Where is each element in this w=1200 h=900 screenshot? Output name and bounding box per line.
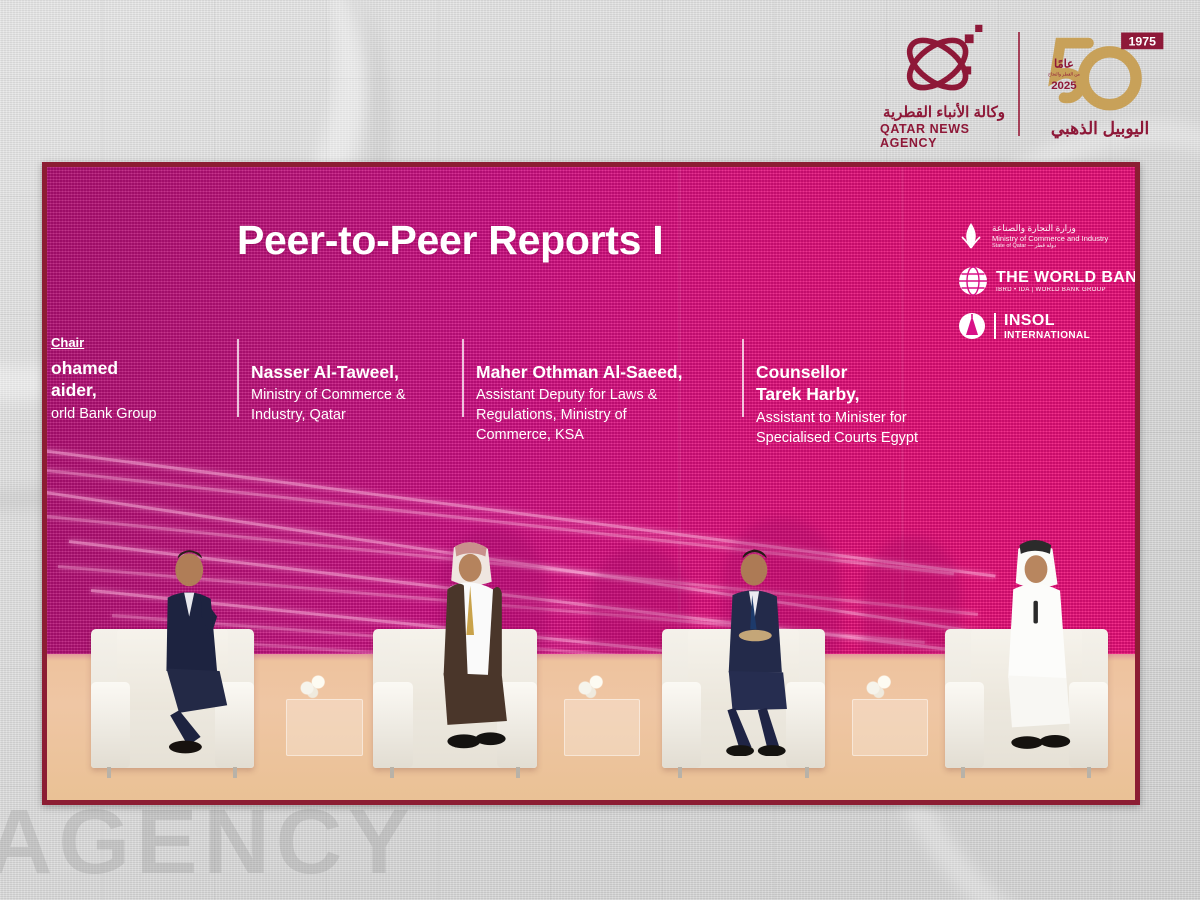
ministry-commerce-industry-icon (958, 221, 984, 251)
side-table-3 (852, 699, 928, 756)
jubilee-50-icon: 1975 عامًا من القطر والنجاح 2025 (1034, 30, 1166, 116)
jubilee-arabic-title: اليوبيل الذهبي (1051, 119, 1149, 139)
qatar-news-agency-logo: وكالة الأنباء القطرية QATAR NEWS AGENCY (880, 19, 1008, 150)
speaker-1-name: ohamed aider, (51, 357, 237, 402)
background-watermark: AGENCY (0, 790, 416, 895)
sponsor-ministry-commerce-industry: وزارة التجارة والصناعة Ministry of Comme… (958, 221, 1135, 251)
header-logo-bar: وكالة الأنباء القطرية QATAR NEWS AGENCY … (880, 14, 1180, 154)
world-bank-sub: IBRD • IDA | WORLD BANK GROUP (996, 287, 1135, 293)
flower-arrangement-3 (862, 670, 899, 700)
speaker-4: Counsellor Tarek Harby, Assistant to Min… (742, 335, 957, 448)
svg-text:من القطر والنجاح: من القطر والنجاح (1048, 71, 1080, 76)
speaker-4-name: Counsellor Tarek Harby, (756, 361, 957, 406)
flower-arrangement-1 (296, 670, 333, 700)
photo-content: Peer-to-Peer Reports I Chair ohamed aide… (47, 167, 1135, 800)
world-bank-globe-icon (958, 266, 988, 296)
microphone-icon (1033, 601, 1037, 624)
speaker-3-org: Assistant Deputy for Laws & Regulations,… (476, 385, 742, 445)
side-table-1 (286, 699, 362, 756)
slide-title: Peer-to-Peer Reports I (237, 217, 663, 264)
speaker-2-org: Ministry of Commerce & Industry, Qatar (251, 385, 462, 425)
insol-divider (994, 313, 996, 339)
speaker-1: Chair ohamed aider, orld Bank Group (47, 335, 237, 424)
insol-icon (958, 311, 986, 341)
slide-speakers-list: Chair ohamed aider, orld Bank Group Nass… (47, 335, 1125, 448)
svg-text:1975: 1975 (1129, 34, 1157, 48)
flower-arrangement-2 (574, 670, 611, 700)
panelist-2-brown-bisht (406, 540, 542, 755)
speaker-1-role: Chair (51, 335, 237, 350)
qna-atom-icon (896, 19, 992, 101)
speaker-3-name: Maher Othman Al-Saeed, (476, 361, 742, 383)
panelist-4-white-thobe-microphone (972, 540, 1103, 755)
speaker-4-org: Assistant to Minister for Specialised Co… (756, 408, 957, 448)
event-photo: Peer-to-Peer Reports I Chair ohamed aide… (42, 162, 1140, 805)
ministry-text-block: وزارة التجارة والصناعة Ministry of Comme… (992, 223, 1108, 249)
speaker-3: Maher Othman Al-Saeed, Assistant Deputy … (462, 335, 742, 445)
golden-jubilee-logo: 1975 عامًا من القطر والنجاح 2025 اليوبيل… (1030, 30, 1170, 139)
ministry-arabic: وزارة التجارة والصناعة (992, 223, 1076, 234)
speaker-2: Nasser Al-Taweel, Ministry of Commerce &… (237, 335, 462, 425)
panelist-1-navy-suit (129, 547, 260, 756)
qna-english-name: QATAR NEWS AGENCY (880, 122, 1008, 150)
insol-sub: INTERNATIONAL (1004, 330, 1090, 341)
logo-divider (1018, 32, 1020, 136)
svg-text:عامًا: عامًا (1054, 58, 1074, 70)
qna-arabic-name: وكالة الأنباء القطرية (883, 103, 1005, 121)
sponsor-insol-international: INSOL INTERNATIONAL (958, 311, 1135, 341)
sponsor-world-bank: THE WORLD BANK IBRD • IDA | WORLD BANK G… (958, 266, 1135, 296)
world-bank-name: THE WORLD BANK (996, 269, 1135, 287)
slide-sponsor-logos: وزارة التجارة والصناعة Ministry of Comme… (958, 221, 1135, 341)
panelist-3-navy-suit (694, 547, 819, 756)
ministry-sub: State of Qatar — دولة قطر (992, 243, 1056, 249)
speaker-1-org: orld Bank Group (51, 404, 237, 424)
side-table-2 (564, 699, 640, 756)
insol-name: INSOL (1004, 312, 1090, 330)
speaker-2-name: Nasser Al-Taweel, (251, 361, 462, 383)
svg-text:2025: 2025 (1051, 79, 1077, 91)
ministry-english: Ministry of Commerce and Industry (992, 234, 1108, 243)
